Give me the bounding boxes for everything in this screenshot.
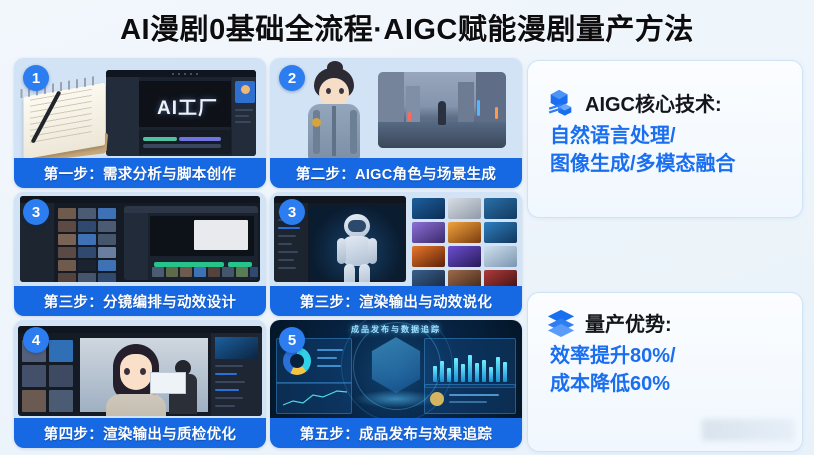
step-thumbnail-1: AI工厂 <box>14 58 266 158</box>
step-thumbnail-2 <box>270 58 522 158</box>
step-badge-4: 3 <box>279 199 305 225</box>
storyboard-window <box>20 196 260 282</box>
step-card-3[interactable]: 3 第三步：分镜编排与动效设计 <box>14 192 266 316</box>
character-illustration <box>298 66 372 158</box>
step-caption-6: 第五步：成品发布与效果追踪 <box>270 418 522 448</box>
step-card-6[interactable]: 成品发布与数据追踪 <box>270 320 522 448</box>
cube-blocks-icon <box>546 87 576 117</box>
astronaut-model <box>338 214 376 282</box>
step-thumbnail-5 <box>14 320 266 418</box>
step-thumbnail-4 <box>270 192 522 286</box>
watermark <box>702 419 794 441</box>
step-caption-5: 第四步：渲染输出与质检优化 <box>14 418 266 448</box>
step-thumbnail-6: 成品发布与数据追踪 <box>270 320 522 418</box>
layers-stack-icon <box>546 307 576 337</box>
astronaut-stage <box>310 206 404 280</box>
step-caption-2: 第二步：AIGC角色与场景生成 <box>270 158 522 188</box>
info-panel-1-line-2: 图像生成/多模态融合 <box>550 151 788 179</box>
info-panel-2-line-1: 效率提升80%/ <box>550 343 788 371</box>
info-panel-1-header: AIGC核心技术: <box>528 61 802 117</box>
shot-thumbnail-grid <box>58 208 116 282</box>
preview-text: AI工厂 <box>157 93 218 120</box>
inner-editor-window <box>124 206 258 280</box>
step-card-1[interactable]: AI工厂 1 第一步：需求分析与脚本创作 <box>14 58 266 188</box>
editor-right-panel <box>232 77 256 156</box>
info-panel-2-body: 效率提升80%/ 成本降低60% <box>528 337 802 398</box>
line-panel <box>276 382 352 414</box>
info-panel-1-line-1: 自然语言处理/ <box>550 123 788 151</box>
qc-window <box>18 326 262 416</box>
poster-root: AI漫剧0基础全流程·AIGC赋能漫剧量产方法 <box>0 0 814 455</box>
character-preview <box>80 338 208 412</box>
info-panel-1-body: 自然语言处理/ 图像生成/多模态融合 <box>528 117 802 178</box>
editor-window: AI工厂 <box>106 70 256 156</box>
info-panel-1-title: AIGC核心技术: <box>585 88 722 117</box>
step-badge-3: 3 <box>23 199 49 225</box>
info-panel-mass-production: 量产优势: 效率提升80%/ 成本降低60% <box>527 292 803 452</box>
step-card-5[interactable]: 4 第四步：渲染输出与质检优化 <box>14 320 266 448</box>
avatar <box>235 81 255 103</box>
info-panel-2-line-2: 成本降低60% <box>550 371 788 399</box>
timeline <box>139 130 231 154</box>
render-results-grid <box>412 198 517 286</box>
step-badge-6: 5 <box>279 327 305 353</box>
page-title: AI漫剧0基础全流程·AIGC赋能漫剧量产方法 <box>0 6 814 48</box>
step-badge-2: 2 <box>279 65 305 91</box>
inner-preview <box>150 216 254 256</box>
info-panel-2-title: 量产优势: <box>585 308 672 337</box>
line-chart <box>277 383 351 413</box>
step-thumbnail-3 <box>14 192 266 286</box>
window-titlebar <box>106 70 256 77</box>
step-badge-5: 4 <box>23 327 49 353</box>
info-panel-2-header: 量产优势: <box>528 293 802 337</box>
city-scene-image <box>378 72 506 148</box>
analytics-dashboard: 成品发布与数据追踪 <box>270 320 522 418</box>
info-panel-core-tech: AIGC核心技术: 自然语言处理/ 图像生成/多模态融合 <box>527 60 803 218</box>
steps-grid: AI工厂 1 第一步：需求分析与脚本创作 <box>14 58 514 450</box>
step-caption-1: 第一步：需求分析与脚本创作 <box>14 158 266 188</box>
step-badge-1: 1 <box>23 65 49 91</box>
step-card-4[interactable]: 3 第三步：渲染输出与动效说化 <box>270 192 522 316</box>
step-card-2[interactable]: 2 第二步：AIGC角色与场景生成 <box>270 58 522 188</box>
step-caption-4: 第三步：渲染输出与动效说化 <box>270 286 522 316</box>
preview-stage: AI工厂 <box>139 81 231 127</box>
step-caption-3: 第三步：分镜编排与动效设计 <box>14 286 266 316</box>
